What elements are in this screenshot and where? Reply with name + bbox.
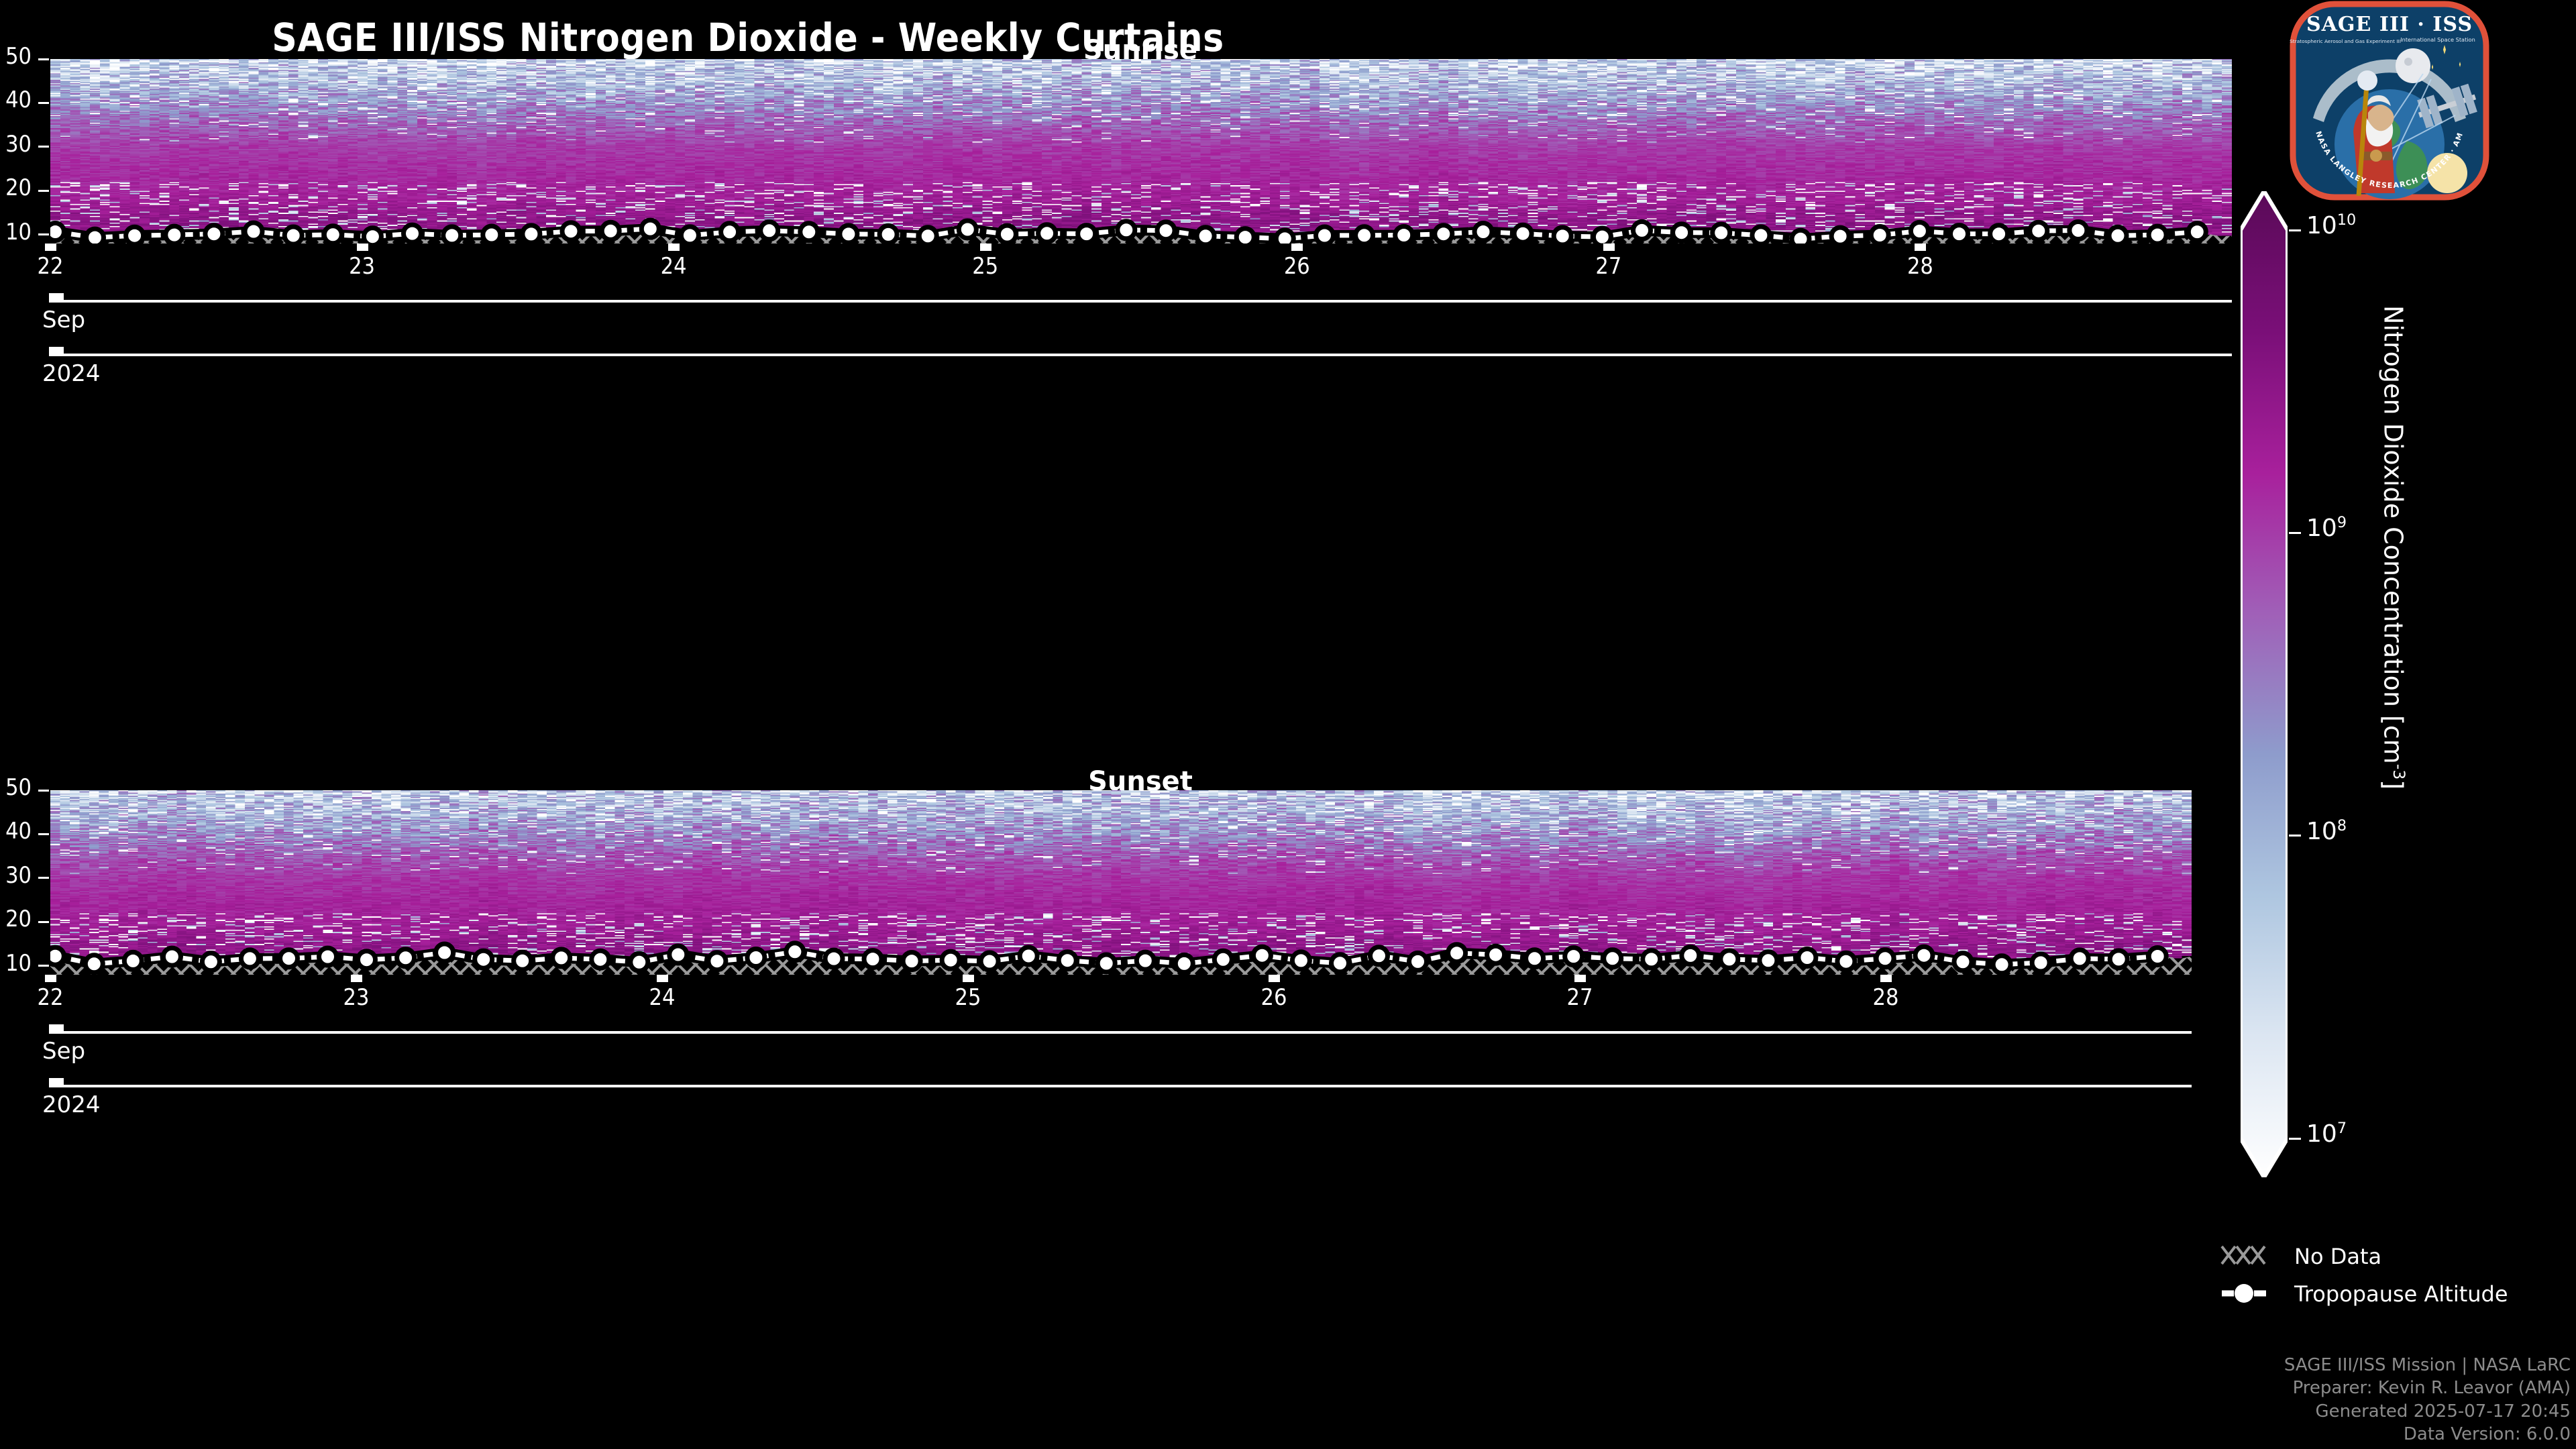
legend-label: No Data <box>2294 1244 2381 1269</box>
tropopause-marker <box>397 949 415 967</box>
x-tick-mark <box>1915 244 1926 251</box>
tropopause-marker <box>324 226 341 244</box>
tropopause-marker <box>1356 227 1373 244</box>
tropopause-marker <box>1514 225 1532 242</box>
colorbar-tick-mark <box>2289 835 2301 837</box>
date-hierarchy-label: 2024 <box>42 1091 101 1118</box>
x-tick-mark <box>1880 975 1892 982</box>
legend: No DataTropopause Altitude <box>2220 1241 2576 1315</box>
date-hierarchy-line <box>50 354 2232 356</box>
y-tick-label: 10 <box>0 950 32 977</box>
tropopause-marker <box>1792 230 1809 244</box>
tropopause-marker <box>1871 227 1888 244</box>
colorbar-tick-mark <box>2289 532 2301 534</box>
tropopause-marker <box>358 951 376 969</box>
tropopause-marker <box>747 949 765 967</box>
tropopause-marker <box>864 951 881 968</box>
y-tick-mark <box>38 102 49 104</box>
tropopause-swatch-icon <box>2220 1279 2294 1308</box>
credit-line: SAGE III/ISS Mission | NASA LaRC <box>2141 1354 2571 1377</box>
tropopause-marker <box>562 223 580 240</box>
tropopause-marker <box>942 951 959 969</box>
x-tick-mark <box>980 244 991 251</box>
x-tick-label: 22 <box>28 984 73 1011</box>
tropopause-marker <box>1604 950 1621 967</box>
tropopause-marker <box>284 227 302 244</box>
date-hierarchy-label: 2024 <box>42 360 101 387</box>
x-tick-mark <box>1269 975 1280 982</box>
svg-text:International Space Station: International Space Station <box>2400 36 2475 43</box>
x-tick-mark <box>668 244 680 251</box>
tropopause-marker <box>669 946 687 963</box>
tropopause-marker <box>2188 223 2206 241</box>
date-hierarchy-label: Sep <box>42 307 85 333</box>
x-tick-mark <box>963 975 974 982</box>
tropopause-marker <box>553 949 570 967</box>
tropopause-marker <box>708 953 726 970</box>
tropopause-marker <box>631 953 648 971</box>
tropopause-marker <box>1876 950 1894 967</box>
y-tick-label: 30 <box>0 131 32 158</box>
tropopause-marker <box>592 951 609 968</box>
x-tick-mark <box>1291 244 1303 251</box>
tropopause-marker <box>319 948 337 965</box>
date-hierarchy-tick <box>49 347 64 356</box>
credits-block: SAGE III/ISS Mission | NASA LaRC Prepare… <box>2141 1354 2571 1446</box>
tropopause-marker <box>981 953 998 970</box>
colorbar-tick-label: 109 <box>2306 514 2347 542</box>
tropopause-marker <box>1371 947 1388 965</box>
x-tick-label: 26 <box>1274 253 1320 280</box>
tropopause-marker <box>681 227 698 244</box>
tropopause-marker <box>602 222 619 239</box>
svg-text:Stratospheric Aerosol and Gas: Stratospheric Aerosol and Gas Experiment… <box>2290 38 2401 44</box>
tropopause-marker <box>1175 955 1193 972</box>
x-tick-mark <box>351 975 362 982</box>
tropopause-marker <box>1435 225 1452 243</box>
y-tick-label: 50 <box>0 774 32 801</box>
x-tick-label: 27 <box>1586 253 1631 280</box>
tropopause-marker <box>1990 225 2008 243</box>
y-tick-mark <box>38 190 49 192</box>
credit-line: Data Version: 6.0.0 <box>2141 1423 2571 1446</box>
x-tick-label: 25 <box>963 253 1008 280</box>
colorbar-tick-label: 1010 <box>2306 211 2356 239</box>
tropopause-marker <box>1713 224 1730 241</box>
tropopause-marker <box>1059 952 1076 969</box>
y-tick-mark <box>38 833 49 835</box>
tropopause-marker <box>800 223 818 241</box>
y-tick-mark <box>38 877 49 879</box>
x-tick-label: 28 <box>1897 253 1943 280</box>
svg-text:SAGE III · ISS: SAGE III · ISS <box>2306 13 2473 36</box>
tropopause-marker <box>1097 955 1115 972</box>
tropopause-marker <box>641 220 659 237</box>
y-tick-mark <box>38 146 49 148</box>
date-hierarchy-tick <box>49 1024 64 1034</box>
tropopause-marker <box>1197 227 1214 244</box>
tropopause-marker <box>1911 222 1928 239</box>
tropopause-marker <box>404 225 421 242</box>
tropopause-marker <box>1721 951 1738 968</box>
heatmap-sunrise[interactable] <box>50 59 2232 244</box>
no-data-swatch-icon <box>2220 1241 2294 1271</box>
tropopause-marker <box>1292 952 1309 969</box>
tropopause-marker <box>1565 948 1582 965</box>
tropopause-marker <box>2071 950 2088 967</box>
tropopause-marker <box>1136 952 1154 969</box>
x-tick-mark <box>657 975 668 982</box>
tropopause-marker <box>1526 950 1544 967</box>
y-tick-label: 20 <box>0 174 32 201</box>
x-tick-label: 25 <box>945 984 991 1011</box>
tropopause-marker <box>1831 227 1849 244</box>
tropopause-marker <box>202 953 219 971</box>
tropopause-marker <box>1682 947 1699 964</box>
colorbar-label: Nitrogen Dioxide Concentration [cm-3] <box>2378 305 2408 790</box>
tropopause-marker <box>1554 227 1571 244</box>
tropopause-marker <box>241 950 258 967</box>
tropopause-marker <box>50 947 64 965</box>
tropopause-marker <box>1752 227 1770 244</box>
y-tick-label: 40 <box>0 818 32 845</box>
tropopause-marker <box>2149 948 2166 965</box>
y-tick-mark <box>38 965 49 967</box>
x-tick-label: 27 <box>1557 984 1603 1011</box>
tropopause-marker <box>1448 945 1466 962</box>
y-tick-mark <box>38 58 49 60</box>
x-tick-label: 22 <box>28 253 73 280</box>
y-tick-mark <box>38 233 49 235</box>
tropopause-marker <box>1760 952 1777 969</box>
date-hierarchy-line <box>50 300 2232 303</box>
tropopause-marker <box>919 227 936 244</box>
tropopause-marker <box>1993 956 2010 973</box>
tropopause-marker <box>1474 223 1492 241</box>
colorbar[interactable] <box>2241 191 2288 1177</box>
tropopause-marker <box>87 229 104 244</box>
y-tick-label: 20 <box>0 906 32 932</box>
tropopause-marker <box>840 225 857 243</box>
tropopause-marker <box>721 223 739 241</box>
colorbar-tick-label: 108 <box>2306 817 2347 845</box>
sage-iii-iss-mission-logo: SAGE III · ISSStratospheric Aerosol and … <box>2289 0 2490 201</box>
tropopause-marker <box>1078 225 1095 243</box>
legend-label: Tropopause Altitude <box>2294 1281 2508 1307</box>
tropopause-marker <box>903 953 920 970</box>
tropopause-marker <box>959 221 976 238</box>
date-hierarchy-line <box>50 1085 2192 1087</box>
tropopause-marker <box>1951 225 1968 243</box>
tropopause-marker <box>1643 951 1660 968</box>
tropopause-marker <box>126 227 144 244</box>
tropopause-marker <box>1837 953 1855 970</box>
credit-line: Preparer: Kevin R. Leavor (AMA) <box>2141 1377 2571 1399</box>
tropopause-marker <box>998 225 1016 243</box>
y-tick-label: 40 <box>0 87 32 113</box>
x-tick-label: 23 <box>339 253 385 280</box>
tropopause-marker <box>1799 949 1816 967</box>
y-tick-label: 10 <box>0 219 32 246</box>
tropopause-overlay <box>50 790 2192 975</box>
tropopause-marker <box>50 223 64 241</box>
x-tick-mark <box>1574 975 1586 982</box>
tropopause-marker <box>124 952 142 969</box>
colorbar-tick-mark <box>2289 1138 2301 1140</box>
tropopause-marker <box>85 955 103 973</box>
tropopause-marker <box>2149 226 2166 244</box>
tropopause-marker <box>163 948 180 965</box>
tropopause-marker <box>761 222 778 239</box>
tropopause-marker <box>1157 222 1175 239</box>
tropopause-marker <box>436 944 453 961</box>
tropopause-marker <box>1915 947 1933 964</box>
tropopause-marker <box>1316 227 1334 244</box>
x-tick-label: 26 <box>1251 984 1297 1011</box>
tropopause-marker <box>483 226 500 244</box>
tropopause-marker <box>825 950 843 967</box>
heatmap-sunset[interactable] <box>50 790 2192 975</box>
tropopause-marker <box>2030 222 2047 239</box>
colorbar-tick-label: 107 <box>2306 1120 2347 1148</box>
tropopause-marker <box>1332 955 1349 972</box>
tropopause-marker <box>475 951 492 968</box>
tropopause-marker <box>1487 946 1505 963</box>
tropopause-overlay <box>50 59 2232 244</box>
y-tick-mark <box>38 790 49 792</box>
date-hierarchy-tick <box>49 1078 64 1087</box>
tropopause-marker <box>2032 954 2049 971</box>
tropopause-marker <box>514 952 531 969</box>
x-tick-mark <box>45 244 56 251</box>
y-tick-label: 30 <box>0 862 32 889</box>
tropopause-marker <box>879 225 897 243</box>
tropopause-marker <box>2109 227 2127 244</box>
tropopause-marker <box>1395 227 1413 244</box>
tropopause-marker <box>166 226 183 244</box>
x-tick-label: 23 <box>333 984 379 1011</box>
colorbar-tick-mark <box>2289 229 2301 231</box>
x-tick-mark <box>1603 244 1615 251</box>
tropopause-marker <box>1633 221 1651 239</box>
tropopause-marker <box>2070 222 2087 239</box>
tropopause-marker <box>1954 953 1972 971</box>
colorbar-body[interactable] <box>2241 191 2288 1177</box>
date-hierarchy-label: Sep <box>42 1038 85 1065</box>
tropopause-marker <box>786 943 804 961</box>
tropopause-marker <box>1673 224 1690 241</box>
tropopause-marker <box>1214 951 1232 968</box>
tropopause-marker <box>2110 951 2127 968</box>
tropopause-marker <box>245 223 262 240</box>
tropopause-marker <box>1409 953 1427 970</box>
tropopause-marker <box>1253 947 1271 964</box>
x-tick-label: 24 <box>651 253 696 280</box>
tropopause-marker <box>1276 230 1293 244</box>
colorbar-gradient[interactable] <box>2241 191 2288 1177</box>
tropopause-marker <box>364 228 381 244</box>
tropopause-marker <box>205 225 223 243</box>
x-tick-mark <box>357 244 368 251</box>
tropopause-marker <box>1236 229 1254 244</box>
y-tick-label: 50 <box>0 43 32 70</box>
tropopause-marker <box>1593 228 1611 244</box>
tropopause-marker <box>523 225 540 243</box>
tropopause-marker <box>1020 947 1037 965</box>
tropopause-marker <box>1118 221 1135 239</box>
tropopause-marker <box>1038 225 1056 242</box>
credit-line: Generated 2025-07-17 20:45 <box>2141 1400 2571 1423</box>
date-hierarchy-tick <box>49 293 64 303</box>
date-hierarchy-line <box>50 1031 2192 1034</box>
x-tick-label: 24 <box>639 984 685 1011</box>
tropopause-marker <box>280 950 298 967</box>
y-tick-mark <box>38 921 49 923</box>
x-tick-label: 28 <box>1863 984 1909 1011</box>
tropopause-marker <box>443 227 461 244</box>
x-tick-mark <box>45 975 56 982</box>
mission-patch-svg: SAGE III · ISSStratospheric Aerosol and … <box>2289 0 2490 201</box>
